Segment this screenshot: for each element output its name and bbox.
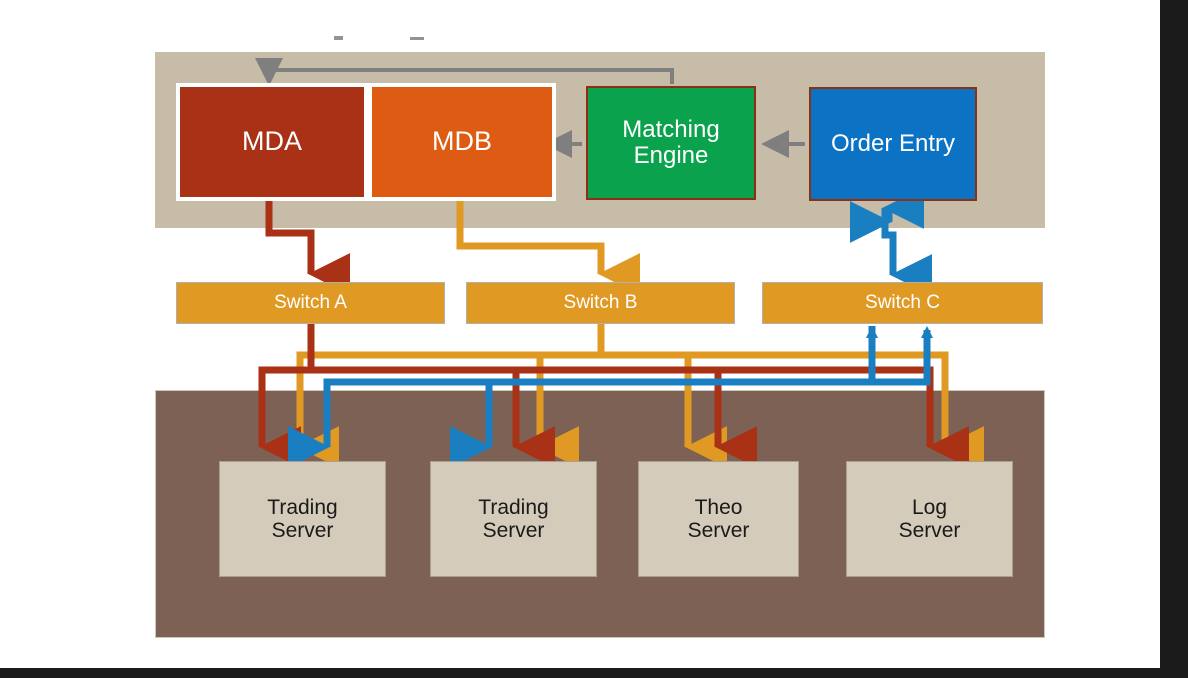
- node-order-entry[interactable]: Order Entry: [809, 87, 977, 201]
- node-switch-a-label: Switch A: [274, 293, 347, 314]
- node-switch-c-label: Switch C: [865, 293, 940, 314]
- diagram-canvas: MDA MDB Matching Engine Order Entry Swit…: [0, 0, 1188, 678]
- node-log-server-label-line1: Log: [912, 496, 947, 519]
- node-trading-server-1-label-line2: Server: [272, 519, 334, 542]
- node-trading-server-2[interactable]: Trading Server: [430, 461, 597, 577]
- node-theo-server[interactable]: Theo Server: [638, 461, 799, 577]
- node-log-server-label-line2: Server: [899, 519, 961, 542]
- node-mda[interactable]: MDA: [176, 83, 368, 201]
- node-trading-server-2-label-line2: Server: [483, 519, 545, 542]
- node-matching-engine-label-line2: Engine: [634, 143, 709, 169]
- node-matching-engine-label-line1: Matching: [622, 117, 719, 143]
- node-trading-server-1-label-line1: Trading: [267, 496, 337, 519]
- node-mdb-label: MDB: [432, 127, 492, 157]
- node-switch-c[interactable]: Switch C: [762, 282, 1043, 324]
- node-switch-a[interactable]: Switch A: [176, 282, 445, 324]
- node-theo-server-label-line1: Theo: [695, 496, 743, 519]
- window-frame-right: [1160, 0, 1188, 678]
- node-matching-engine[interactable]: Matching Engine: [586, 86, 756, 200]
- node-mda-label: MDA: [242, 127, 302, 157]
- window-frame-bottom: [0, 668, 1188, 678]
- node-log-server[interactable]: Log Server: [846, 461, 1013, 577]
- node-theo-server-label-line2: Server: [688, 519, 750, 542]
- node-order-entry-label: Order Entry: [831, 131, 955, 157]
- node-switch-b[interactable]: Switch B: [466, 282, 735, 324]
- node-trading-server-1[interactable]: Trading Server: [219, 461, 386, 577]
- node-switch-b-label: Switch B: [564, 293, 638, 314]
- node-trading-server-2-label-line1: Trading: [478, 496, 548, 519]
- node-mdb[interactable]: MDB: [368, 83, 556, 201]
